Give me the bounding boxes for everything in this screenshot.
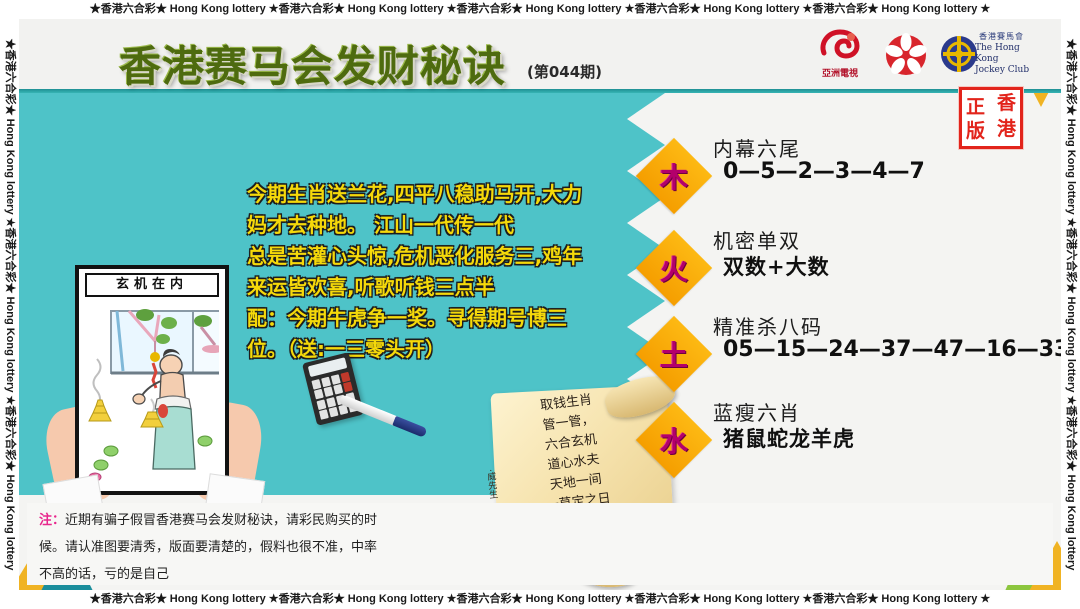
disclaimer-note: 注：近期有骗子假冒香港赛马会发财秘诀，请彩民购买的时 候。请认准图要清秀，版面要… [27, 503, 1053, 585]
element-char-water: 水 [660, 420, 688, 460]
prediction-list: 木 内幕六尾 0—5—2—3—4—7 火 机密单双 双数+大数 土 精准杀八码 … [647, 99, 1061, 495]
prediction-label-water: 蓝瘦六肖 [713, 397, 801, 426]
border-strip-left: ★香港六合彩★ Hong Kong lottery ★香港六合彩★ Hong K… [0, 0, 19, 609]
prediction-label-wood: 内幕六尾 [713, 133, 801, 162]
element-char-fire: 火 [660, 248, 688, 288]
prediction-value-earth: 05—15—24—37—47—16—33—16 [723, 337, 1061, 362]
calculator-keys [311, 372, 358, 420]
border-text-bottom: ★香港六合彩★ Hong Kong lottery ★香港六合彩★ Hong K… [90, 593, 991, 605]
hkjc-caption-cn: 香港賽馬會 [979, 31, 1024, 42]
atv-logo-caption: 亞洲電視 [809, 66, 871, 79]
border-text-right: ★香港六合彩★ Hong Kong lottery ★香港六合彩★ Hong K… [1065, 39, 1077, 571]
element-badge-wood: 木 [636, 138, 712, 214]
note-text-1: 近期有骗子假冒香港赛马会发财秘诀，请彩民购买的时 [65, 513, 377, 528]
bauhinia-flower-icon [883, 33, 929, 77]
element-char-wood: 木 [660, 156, 688, 196]
omen-picture-title: 玄机在内 [85, 273, 219, 297]
border-strip-bottom: ★香港六合彩★ Hong Kong lottery ★香港六合彩★ Hong K… [0, 590, 1080, 609]
picture-with-hands: 玄机在内 [49, 257, 259, 517]
border-text-left: ★香港六合彩★ Hong Kong lottery ★香港六合彩★ Hong K… [4, 39, 16, 571]
note-prefix: 注： [39, 513, 65, 528]
prediction-value-water: 猪鼠蛇龙羊虎 [723, 423, 855, 453]
hkjc-caption-en: The Hong Kong Jockey Club [975, 43, 1039, 76]
note-line-3: 不高的话，亏的是自己 [39, 561, 1041, 588]
verse-line-3: 总是苦灌心头惊,危机恶化服务三,鸡年 [247, 241, 647, 272]
poster-frame: ★香港六合彩★ Hong Kong lottery ★香港六合彩★ Hong K… [0, 0, 1080, 609]
verse-line-6: 位。（送:一三零头开） [247, 334, 647, 365]
atv-mark-icon [809, 29, 871, 66]
hkjc-logo: 香港賽馬會 The Hong Kong Jockey Club [939, 31, 1039, 81]
verse-line-4: 来运皆欢喜,听歌听钱三点半 [247, 272, 647, 303]
hk-bauhinia-logo [883, 33, 929, 77]
border-text-top: ★香港六合彩★ Hong Kong lottery ★香港六合彩★ Hong K… [90, 3, 991, 15]
omen-picture-frame: 玄机在内 [75, 265, 229, 495]
prediction-label-fire: 机密单双 [713, 225, 801, 254]
element-char-earth: 土 [660, 334, 688, 374]
omen-picture-art [85, 301, 219, 485]
hkjc-caption-en-line1: The Hong Kong [975, 43, 1039, 65]
border-strip-right: ★香港六合彩★ Hong Kong lottery ★香港六合彩★ Hong K… [1061, 0, 1080, 609]
note-line-2: 候。请认准图要清秀，版面要清楚的，假料也很不准，中率 [39, 534, 1041, 561]
prediction-value-wood: 0—5—2—3—4—7 [723, 159, 925, 184]
prediction-row-wood: 木 内幕六尾 0—5—2—3—4—7 [647, 175, 1061, 271]
prediction-label-earth: 精准杀八码 [713, 311, 823, 340]
poster-canvas: 香港赛马会发财秘诀 (第044期) 亞洲電視 [19, 19, 1061, 590]
issue-number: (第044期) [527, 61, 602, 82]
verse-line-2: 妈才去种地。 江山一代传一代 [247, 210, 647, 241]
verse-line-5: 配：今期牛虎争一奖。寻得期号博三 [247, 303, 647, 334]
page-title: 香港赛马会发财秘诀 [119, 33, 506, 94]
border-strip-top: ★香港六合彩★ Hong Kong lottery ★香港六合彩★ Hong K… [0, 0, 1080, 19]
atv-logo: 亞洲電視 [809, 29, 871, 79]
verse-line-1: 今期生肖送兰花,四平八稳助马开,大力 [247, 179, 647, 210]
omen-illustration-icon [85, 301, 219, 485]
logo-group: 亞洲電視 [809, 27, 1039, 85]
atv-swirl-icon [818, 29, 862, 59]
note-line-1: 注：近期有骗子假冒香港赛马会发财秘诀，请彩民购买的时 [39, 507, 1041, 534]
prediction-value-fire: 双数+大数 [723, 251, 830, 281]
verse-text: 今期生肖送兰花,四平八稳助马开,大力 妈才去种地。 江山一代传一代 总是苦灌心头… [247, 179, 647, 365]
hkjc-caption-en-line2: Jockey Club [975, 65, 1039, 76]
hkjc-emblem-icon [939, 31, 979, 77]
